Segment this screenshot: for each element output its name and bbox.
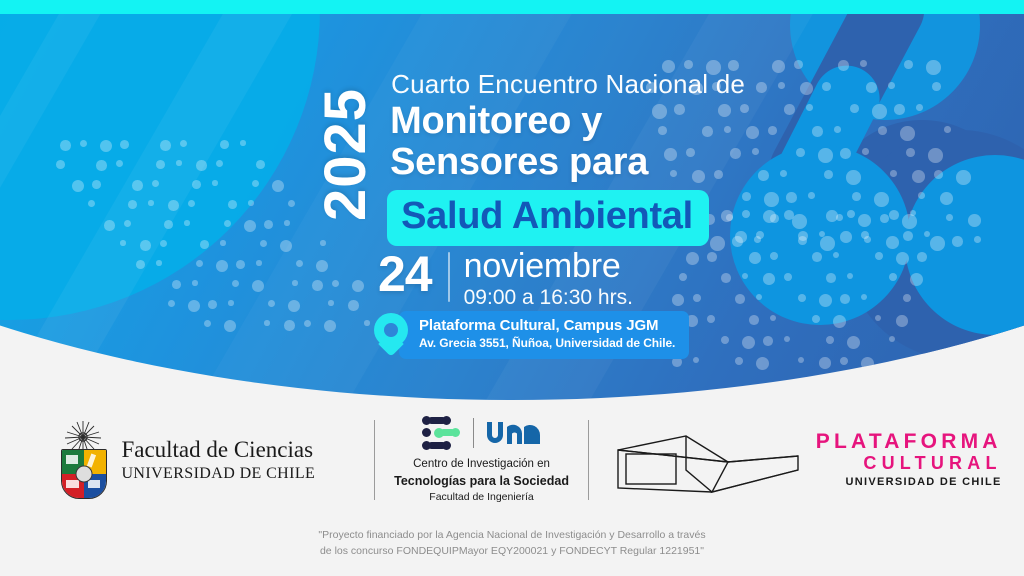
sponsor-logos-row: Facultad de Ciencias UNIVERSIDAD DE CHIL…	[0, 404, 1024, 516]
plataforma-line-2: CULTURAL	[816, 453, 1002, 473]
event-title-line-1: Monitoreo y	[390, 101, 745, 141]
location-block: Plataforma Cultural, Campus JGM Av. Grec…	[374, 311, 689, 359]
citiaps-line-1: Centro de Investigación en	[413, 457, 550, 473]
date-divider	[448, 252, 450, 302]
location-venue: Plataforma Cultural, Campus JGM	[419, 317, 675, 335]
plataforma-line-3: UNIVERSIDAD DE CHILE	[816, 476, 1002, 489]
citiaps-line-2: Tecnologías para la Sociedad	[394, 473, 569, 490]
event-day: 24	[378, 249, 432, 298]
title-block: 2025 Cuarto Encuentro Nacional de Monito…	[318, 70, 745, 246]
event-title-line-2: Sensores para	[390, 142, 745, 182]
network-nodes-icon	[422, 416, 462, 450]
event-hours: 09:00 a 16:30 hrs.	[464, 285, 633, 311]
event-kicker: Cuarto Encuentro Nacional de	[391, 70, 745, 99]
event-month: noviembre	[464, 249, 633, 283]
uchile-faculty-name: Facultad de Ciencias	[121, 437, 315, 463]
logo-citiaps-udd: Centro de Investigación en Tecnologías p…	[375, 404, 589, 516]
uchile-university-name: UNIVERSIDAD DE CHILE	[121, 464, 315, 483]
location-badge: Plataforma Cultural, Campus JGM Av. Grec…	[399, 311, 689, 359]
event-title-highlight: Salud Ambiental	[387, 190, 709, 246]
logo-universidad-de-chile: Facultad de Ciencias UNIVERSIDAD DE CHIL…	[0, 404, 374, 516]
funding-note-line-1: "Proyecto financiado por la Agencia Naci…	[0, 527, 1024, 543]
wireframe-box-icon	[612, 426, 802, 494]
citiaps-line-3: Facultad de Ingeniería	[429, 490, 534, 504]
date-block: 24 noviembre 09:00 a 16:30 hrs.	[378, 249, 633, 311]
year-label: 2025	[318, 88, 373, 221]
logo-plataforma-cultural: PLATAFORMA CULTURAL UNIVERSIDAD DE CHILE	[589, 404, 1024, 516]
plataforma-line-1: PLATAFORMA	[816, 431, 1002, 453]
universidad-de-chile-crest-icon	[58, 421, 108, 499]
funding-note: "Proyecto financiado por la Agencia Naci…	[0, 527, 1024, 560]
top-accent-bar	[0, 0, 1024, 14]
udd-logo-icon	[485, 420, 541, 446]
location-address: Av. Grecia 3551, Ñuñoa, Universidad de C…	[419, 336, 675, 352]
map-pin-icon	[374, 313, 408, 357]
event-poster: 2025 Cuarto Encuentro Nacional de Monito…	[0, 0, 1024, 576]
funding-note-line-2: de los concurso FONDEQUIPMayor EQY200021…	[0, 543, 1024, 559]
